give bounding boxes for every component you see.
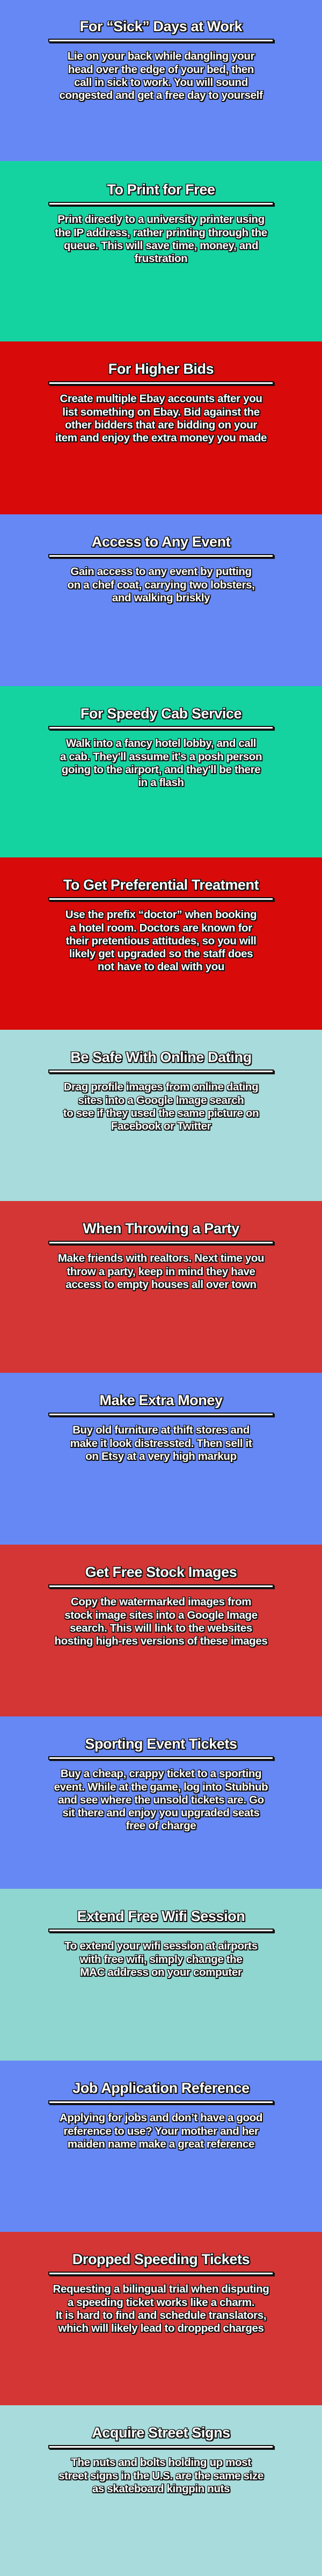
tip-panel: For Speedy Cab ServiceWalk into a fancy … <box>0 686 322 857</box>
tip-panel: Extend Free Wifi SessionTo extend your w… <box>0 1889 322 2061</box>
tip-title: When Throwing a Party <box>1 1221 321 1236</box>
tip-title: Dropped Speeding Tickets <box>1 2252 321 2267</box>
title-divider-rule <box>48 39 274 42</box>
tip-panel: To Get Preferential TreatmentUse the pre… <box>0 857 322 1030</box>
title-divider-rule <box>48 1413 274 1416</box>
tip-panel: Sporting Event TicketsBuy a cheap, crapp… <box>0 1716 322 1889</box>
tip-panel: To Print for FreePrint directly to a uni… <box>0 161 322 341</box>
tip-title: To Get Preferential Treatment <box>1 877 321 892</box>
tip-body-text: Requesting a bilingual trial when disput… <box>2 2283 320 2335</box>
title-divider-rule <box>48 381 274 385</box>
tip-title: For Speedy Cab Service <box>1 706 321 721</box>
tip-title: Get Free Stock Images <box>1 1564 321 1580</box>
tip-body-text: Drag profile images from online dating s… <box>2 1081 320 1133</box>
title-divider-rule <box>48 2272 274 2275</box>
tip-body-text: Use the prefix “doctor” when booking a h… <box>2 908 320 973</box>
tip-panel: Make Extra MoneyBuy old furniture at thi… <box>0 1373 322 1545</box>
title-divider-rule <box>48 1069 274 1073</box>
tip-body-text: Applying for jobs and don’t have a good … <box>2 2112 320 2151</box>
tip-panel: Get Free Stock ImagesCopy the watermarke… <box>0 1545 322 1716</box>
tip-body-text: Buy old furniture at thift stores and ma… <box>2 1424 320 1463</box>
tip-body-text: Copy the watermarked images from stock i… <box>2 1596 320 1648</box>
tip-body-text: Lie on your back while dangling your hea… <box>2 50 320 102</box>
tip-panel: Dropped Speeding TicketsRequesting a bil… <box>0 2232 322 2405</box>
title-divider-rule <box>48 726 274 730</box>
tip-title: Sporting Event Tickets <box>1 1736 321 1751</box>
tip-title: To Print for Free <box>1 182 321 197</box>
tip-body-text: Create multiple Ebay accounts after you … <box>2 392 320 445</box>
tip-body-text: Buy a cheap, crappy ticket to a sporting… <box>2 1767 320 1832</box>
tip-panel: For “Sick” Days at WorkLie on your back … <box>0 0 322 161</box>
tip-panel: Job Application ReferenceApplying for jo… <box>0 2061 322 2232</box>
infographic-container: For “Sick” Days at WorkLie on your back … <box>0 0 322 2576</box>
tip-panel: For Higher BidsCreate multiple Ebay acco… <box>0 341 322 514</box>
title-divider-rule <box>48 1241 274 1245</box>
tip-title: For Higher Bids <box>1 361 321 376</box>
tip-panel: When Throwing a PartyMake friends with r… <box>0 1201 322 1373</box>
title-divider-rule <box>48 2445 274 2449</box>
tip-title: For “Sick” Days at Work <box>1 19 321 34</box>
tip-title: Access to Any Event <box>1 534 321 549</box>
tip-body-text: Walk into a fancy hotel lobby, and call … <box>2 737 320 789</box>
tip-panel: Access to Any EventGain access to any ev… <box>0 514 322 686</box>
title-divider-rule <box>48 554 274 558</box>
title-divider-rule <box>48 2100 274 2104</box>
title-divider-rule <box>48 1756 274 1760</box>
tip-panel: Be Safe With Online DatingDrag profile i… <box>0 1030 322 1201</box>
title-divider-rule <box>48 1584 274 1588</box>
tip-panel: Acquire Street SignsThe nuts and bolts h… <box>0 2405 322 2576</box>
title-divider-rule <box>48 202 274 206</box>
tip-body-text: Make friends with realtors. Next time yo… <box>2 1252 320 1291</box>
title-divider-rule <box>48 1929 274 1932</box>
tip-title: Extend Free Wifi Session <box>1 1909 321 1924</box>
tip-body-text: Gain access to any event by putting on a… <box>2 565 320 605</box>
tip-title: Make Extra Money <box>1 1393 321 1408</box>
title-divider-rule <box>48 897 274 901</box>
tip-title: Job Application Reference <box>1 2080 321 2095</box>
tip-title: Acquire Street Signs <box>1 2425 321 2440</box>
tip-body-text: To extend your wifi session at airports … <box>2 1940 320 1979</box>
tip-body-text: The nuts and bolts holding up most stree… <box>2 2456 320 2495</box>
tip-body-text: Print directly to a university printer u… <box>2 213 320 265</box>
tip-title: Be Safe With Online Dating <box>1 1050 321 1065</box>
